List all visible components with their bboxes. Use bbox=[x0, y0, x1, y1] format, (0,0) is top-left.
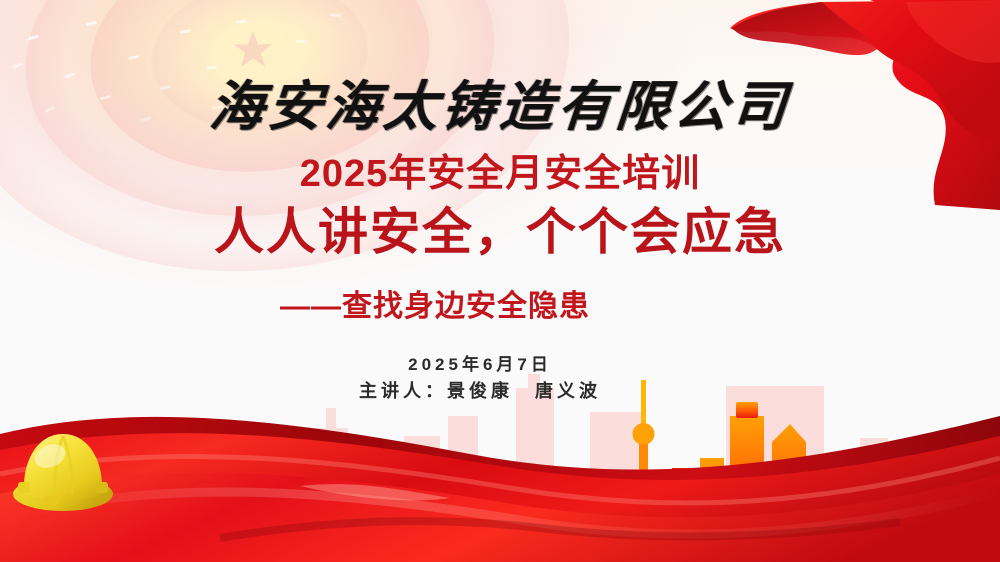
presenter-names: 主讲人：景俊康 唐义波 bbox=[0, 378, 960, 406]
slide-meta-block: 2025年6月7日 主讲人：景俊康 唐义波 bbox=[0, 352, 1000, 406]
main-slogan: 人人讲安全，个个会应急 bbox=[0, 205, 1000, 260]
sub-slogan: ——查找身边安全隐患 bbox=[0, 292, 1000, 322]
training-subtitle: 2025年安全月安全培训 bbox=[0, 155, 1000, 193]
presentation-date: 2025年6月7日 bbox=[0, 352, 960, 378]
safety-helmet-icon bbox=[8, 424, 118, 516]
presentation-slide: 海安海太铸造有限公司 2025年安全月安全培训 人人讲安全，个个会应急 ——查找… bbox=[0, 0, 1000, 562]
company-name-title: 海安海太铸造有限公司 bbox=[0, 80, 1000, 134]
